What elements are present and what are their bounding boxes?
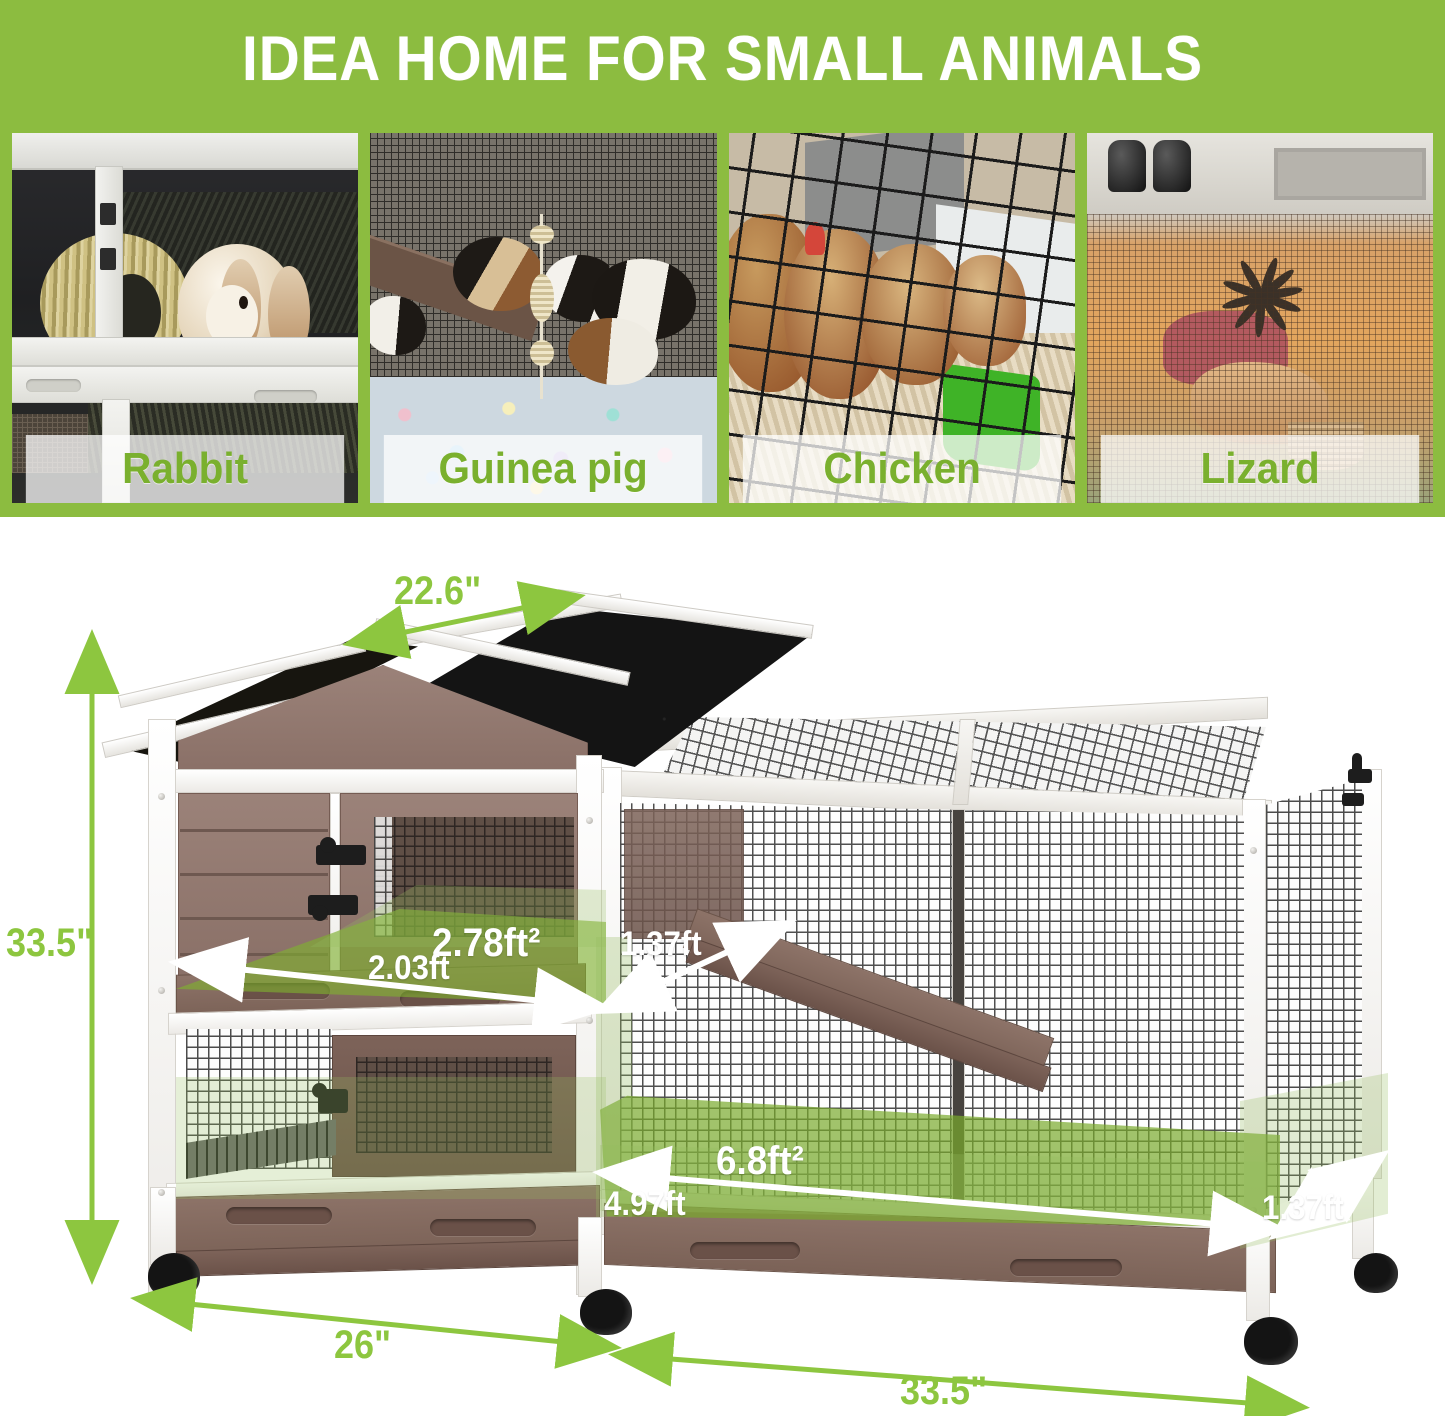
gallery-photo-rabbit: Rabbit <box>12 133 358 503</box>
gallery-label-chicken: Chicken <box>742 435 1061 503</box>
gallery-label-guinea-pig: Guinea pig <box>384 435 703 503</box>
run-latch-lower[interactable] <box>1342 793 1364 806</box>
hutch-door-plank-2 <box>180 873 328 876</box>
hutch-bottom-tray-handle-2[interactable] <box>430 1219 536 1236</box>
hutch-door-latch-upper-knob[interactable] <box>320 837 336 853</box>
caster-front-right <box>1244 1317 1298 1365</box>
gallery-photo-guinea-pig: Guinea pig <box>370 133 716 503</box>
animal-gallery: Rabbit <box>12 133 1433 503</box>
hutch-lower-area-overlay <box>176 1077 606 1199</box>
dimension-overall-height: 33.5" <box>6 921 93 966</box>
dimension-hutch-width-bottom: 26" <box>334 1323 391 1368</box>
screw-2 <box>158 987 165 994</box>
dimension-hutch-floor-depth: 1.37ft <box>620 925 702 964</box>
screw-6 <box>1250 847 1257 854</box>
dimension-run-floor-depth: 1.37ft <box>1262 1189 1344 1228</box>
screw-4 <box>586 817 593 824</box>
hutch-leg-mid <box>578 1217 602 1297</box>
gallery-photo-chicken: Chicken <box>729 133 1075 503</box>
product-dimension-diagram: 22.6" 33.5" 26" 33.5" 2.78ft² 2.03ft 1.3… <box>0 517 1445 1416</box>
caster-front-left <box>148 1253 200 1299</box>
run-tray-handle-2[interactable] <box>1010 1259 1122 1276</box>
dimension-run-floor-width: 4.97ft <box>604 1185 686 1224</box>
dimension-roof-depth: 22.6" <box>394 569 481 614</box>
run-latch-hook[interactable] <box>1352 753 1362 773</box>
hutch-door-plank-3 <box>180 917 328 920</box>
infographic-page: IDEA HOME FOR SMALL ANIMALS <box>0 0 1445 1416</box>
hero-banner: IDEA HOME FOR SMALL ANIMALS <box>0 0 1445 517</box>
screw-1 <box>158 793 165 800</box>
dimension-run-floor-area: 6.8ft² <box>716 1139 804 1184</box>
gallery-label-lizard: Lizard <box>1101 435 1420 503</box>
hutch-bottom-tray-handle-1[interactable] <box>226 1207 332 1224</box>
dimension-hutch-floor-width: 2.03ft <box>368 949 450 988</box>
hutch-gable-rail <box>160 769 604 793</box>
hutch-door-plank-1 <box>180 829 328 832</box>
screw-3 <box>158 1189 165 1196</box>
hutch-door-latch-lower-knob[interactable] <box>312 905 328 921</box>
run-tray-handle[interactable] <box>690 1242 800 1259</box>
page-title: IDEA HOME FOR SMALL ANIMALS <box>72 28 1373 91</box>
gallery-label-rabbit: Rabbit <box>26 435 345 503</box>
screw-5 <box>586 1017 593 1024</box>
caster-front-mid <box>580 1289 632 1335</box>
caster-back-right <box>1354 1253 1398 1293</box>
gallery-photo-lizard: Lizard <box>1087 133 1433 503</box>
dimension-overall-depth: 33.5" <box>900 1369 987 1414</box>
